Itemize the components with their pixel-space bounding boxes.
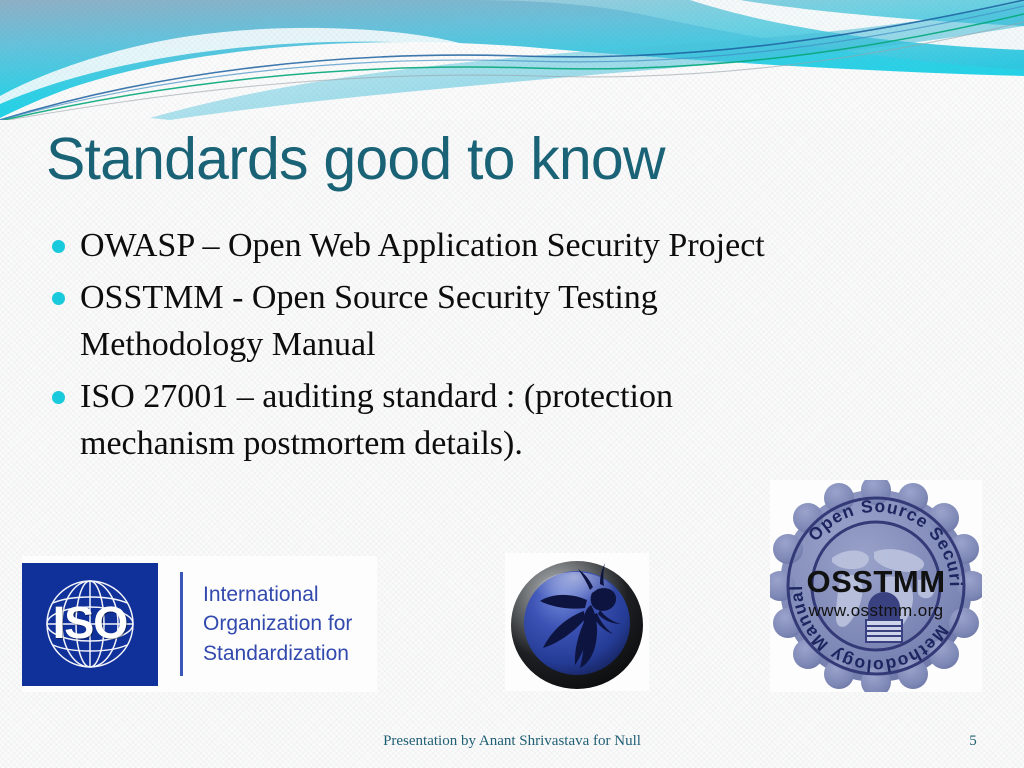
- iso-wordmark: ISO: [22, 597, 158, 649]
- list-item: OSSTMM - Open Source Security Testing Me…: [52, 274, 952, 369]
- osstmm-center-label: OSSTMM: [806, 564, 945, 599]
- footer-credit: Presentation by Anant Shrivastava for Nu…: [0, 733, 1024, 750]
- presentation-slide: Standards good to know OWASP – Open Web …: [0, 0, 1024, 768]
- osstmm-seal-graphic: Open Source Security Testing Methodology…: [770, 480, 982, 692]
- iso-logo: ISO International Organization for Stand…: [22, 556, 377, 692]
- list-item-label: OSSTMM - Open Source Security Testing Me…: [80, 274, 780, 369]
- iso-logo-mark: ISO: [22, 563, 158, 686]
- bullet-dot-icon: [52, 240, 65, 253]
- bullet-dot-icon: [52, 292, 65, 305]
- list-item-label: ISO 27001 – auditing standard : (protect…: [80, 373, 780, 468]
- iso-fullname-line-3: Standardization: [203, 639, 377, 668]
- iso-fullname: International Organization for Standardi…: [203, 580, 377, 668]
- list-item-label: OWASP – Open Web Application Security Pr…: [80, 222, 900, 270]
- header-wave-decoration: [0, 0, 1024, 120]
- owasp-wasp-icon: [505, 553, 649, 691]
- bullet-dot-icon: [52, 391, 65, 404]
- page-title: Standards good to know: [46, 129, 946, 191]
- slide-number: 5: [958, 733, 988, 750]
- osstmm-url-label: www.osstmm.org: [807, 601, 943, 620]
- list-item: OWASP – Open Web Application Security Pr…: [52, 222, 952, 270]
- iso-divider: [180, 572, 183, 676]
- osstmm-seal: Open Source Security Testing Methodology…: [770, 480, 982, 692]
- owasp-logo: [505, 553, 649, 691]
- bullet-list: OWASP – Open Web Application Security Pr…: [52, 222, 952, 472]
- iso-fullname-line-2: Organization for: [203, 609, 377, 638]
- list-item: ISO 27001 – auditing standard : (protect…: [52, 373, 952, 468]
- iso-fullname-line-1: International: [203, 580, 377, 609]
